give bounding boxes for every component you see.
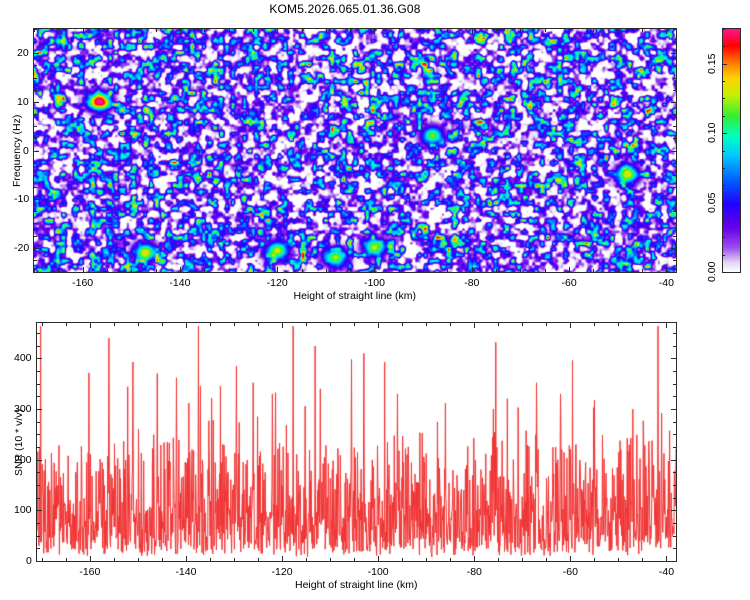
spectrogram-y-axis-title: Frequency (Hz) [11,114,23,186]
major-tick [34,102,39,103]
minor-tick [673,434,676,435]
major-tick [671,199,676,200]
minor-tick [594,323,595,326]
minor-tick [426,323,427,326]
major-tick [37,409,42,410]
minor-tick [450,323,451,326]
major-tick [569,267,570,272]
minor-tick [37,434,40,435]
minor-tick [450,558,451,561]
minor-tick [673,78,676,79]
minor-tick [673,260,676,261]
major-tick [83,29,84,34]
minor-tick [258,558,259,561]
major-tick [666,556,667,561]
minor-tick [673,223,676,224]
y-tick-label: -10 [14,193,29,205]
minor-tick [423,29,424,32]
minor-tick [546,558,547,561]
minor-tick [131,269,132,272]
minor-tick [673,211,676,212]
minor-tick [350,269,351,272]
major-tick [180,267,181,272]
minor-tick [114,558,115,561]
x-tick-label: -100 [364,277,385,289]
minor-tick [496,29,497,32]
minor-tick [354,558,355,561]
minor-tick [34,223,37,224]
y-tick-label: 20 [17,47,29,59]
major-tick [374,267,375,272]
major-tick [34,151,39,152]
minor-tick [229,269,230,272]
colorbar-minor-tick [723,46,725,47]
minor-tick [34,187,37,188]
major-tick [378,323,379,328]
minor-tick [330,558,331,561]
minor-tick [673,65,676,66]
major-tick [90,556,91,561]
minor-tick [37,333,40,334]
colorbar-gradient [723,29,740,272]
minor-tick [34,126,37,127]
colorbar-minor-tick [723,168,725,169]
minor-tick [673,485,676,486]
colorbar-minor-tick [723,185,725,186]
minor-tick [593,29,594,32]
minor-tick [34,78,37,79]
minor-tick [673,536,676,537]
minor-tick [66,323,67,326]
colorbar-minor-tick [723,203,725,204]
minor-tick [673,422,676,423]
major-tick [186,556,187,561]
minor-tick [204,269,205,272]
minor-tick [673,236,676,237]
colorbar-minor-tick [723,29,725,30]
minor-tick [673,138,676,139]
minor-tick [34,29,37,30]
minor-tick [498,558,499,561]
minor-tick [330,323,331,326]
minor-tick [37,485,40,486]
minor-tick [354,323,355,326]
minor-tick [618,558,619,561]
minor-tick [306,558,307,561]
minor-tick [37,548,40,549]
minor-tick [618,29,619,32]
minor-tick [673,371,676,372]
minor-tick [545,269,546,272]
major-tick [378,556,379,561]
minor-tick [131,29,132,32]
colorbar-minor-tick [723,116,725,117]
minor-tick [37,346,40,347]
major-tick [671,409,676,410]
minor-tick [210,558,211,561]
minor-tick [37,422,40,423]
minor-tick [210,323,211,326]
x-tick-label: -140 [169,277,190,289]
minor-tick [234,558,235,561]
minor-tick [426,558,427,561]
major-tick [186,323,187,328]
major-tick [37,358,42,359]
minor-tick [673,187,676,188]
major-tick [472,267,473,272]
minor-tick [37,498,40,499]
minor-tick [37,536,40,537]
colorbar-tick-label: 0.10 [706,123,718,143]
minor-tick [350,29,351,32]
minor-tick [34,41,37,42]
minor-tick [673,447,676,448]
minor-tick [229,29,230,32]
minor-tick [107,29,108,32]
minor-tick [114,323,115,326]
colorbar-minor-tick [723,81,725,82]
colorbar-minor-tick [723,220,725,221]
minor-tick [673,272,676,273]
major-tick [474,556,475,561]
major-tick [34,53,39,54]
minor-tick [162,323,163,326]
x-tick-label: -80 [464,277,479,289]
minor-tick [326,29,327,32]
major-tick [277,29,278,34]
minor-tick [234,323,235,326]
major-tick [666,267,667,272]
minor-tick [520,29,521,32]
minor-tick [34,114,37,115]
minor-tick [34,138,37,139]
y-tick-label: 10 [17,96,29,108]
minor-tick [642,558,643,561]
minor-tick [673,396,676,397]
minor-tick [594,558,595,561]
major-tick [34,248,39,249]
y-tick-label: 0 [26,555,32,567]
minor-tick [37,396,40,397]
minor-tick [253,29,254,32]
minor-tick [498,323,499,326]
minor-tick [37,447,40,448]
minor-tick [138,323,139,326]
spectrogram-image [34,29,676,272]
colorbar-tick-label: 0.00 [706,262,718,282]
minor-tick [673,114,676,115]
major-tick [666,29,667,34]
minor-tick [673,346,676,347]
minor-tick [673,29,676,30]
major-tick [83,267,84,272]
major-tick [570,556,571,561]
minor-tick [58,29,59,32]
x-tick-label: -160 [79,566,100,578]
minor-tick [34,272,37,273]
major-tick [671,248,676,249]
y-tick-label: 400 [14,352,32,364]
minor-tick [258,323,259,326]
minor-tick [302,29,303,32]
minor-tick [673,523,676,524]
major-tick [671,358,676,359]
minor-tick [34,211,37,212]
minor-tick [546,323,547,326]
minor-tick [673,548,676,549]
major-tick [282,323,283,328]
minor-tick [302,269,303,272]
minor-tick [593,269,594,272]
x-tick-label: -40 [659,566,674,578]
minor-tick [34,65,37,66]
minor-tick [37,384,40,385]
minor-tick [673,126,676,127]
minor-tick [642,269,643,272]
major-tick [671,151,676,152]
major-tick [277,267,278,272]
major-tick [671,510,676,511]
snr-plot-area [36,322,677,562]
colorbar-tick-label: 0.15 [706,53,718,73]
major-tick [37,510,42,511]
major-tick [180,29,181,34]
x-tick-label: -140 [175,566,196,578]
minor-tick [673,163,676,164]
spectrogram-plot-area [33,28,677,273]
colorbar-minor-tick [723,272,725,273]
major-tick [666,323,667,328]
figure-title: KOM5.2026.065.01.36.G08 [0,2,690,16]
minor-tick [107,269,108,272]
minor-tick [673,90,676,91]
minor-tick [399,29,400,32]
minor-tick [423,269,424,272]
minor-tick [37,371,40,372]
colorbar-minor-tick [723,237,725,238]
major-tick [474,323,475,328]
major-tick [570,323,571,328]
minor-tick [447,29,448,32]
minor-tick [138,558,139,561]
minor-tick [156,29,157,32]
minor-tick [447,269,448,272]
major-tick [472,29,473,34]
minor-tick [496,269,497,272]
y-tick-label: 0 [23,145,29,157]
minor-tick [673,41,676,42]
major-tick [282,556,283,561]
minor-tick [522,558,523,561]
snr-x-axis-title: Height of straight line (km) [295,579,418,591]
minor-tick [402,323,403,326]
major-tick [37,460,42,461]
x-tick-label: -160 [72,277,93,289]
y-tick-label: 100 [14,504,32,516]
minor-tick [673,333,676,334]
minor-tick [545,29,546,32]
minor-tick [34,260,37,261]
minor-tick [162,558,163,561]
minor-tick [326,269,327,272]
colorbar-tick-label: 0.05 [706,192,718,212]
snr-trace-canvas [37,323,676,561]
x-tick-label: -80 [467,566,482,578]
minor-tick [37,472,40,473]
minor-tick [34,175,37,176]
minor-tick [34,236,37,237]
snr-y-axis-title: SNR (10 * v/v) [13,408,25,475]
x-tick-label: -120 [267,277,288,289]
minor-tick [66,558,67,561]
minor-tick [402,558,403,561]
minor-tick [42,323,43,326]
minor-tick [156,269,157,272]
minor-tick [306,323,307,326]
minor-tick [618,269,619,272]
minor-tick [673,175,676,176]
minor-tick [520,269,521,272]
x-tick-label: -60 [562,277,577,289]
minor-tick [642,29,643,32]
minor-tick [673,498,676,499]
colorbar-minor-tick [723,151,725,152]
figure-root: KOM5.2026.065.01.36.G08 -160-140-120-100… [0,0,750,600]
colorbar-minor-tick [723,64,725,65]
colorbar-minor-tick [723,255,725,256]
major-tick [671,53,676,54]
minor-tick [34,163,37,164]
major-tick [37,561,42,562]
y-tick-label: -20 [14,242,29,254]
minor-tick [673,384,676,385]
colorbar-minor-tick [723,98,725,99]
minor-tick [642,323,643,326]
minor-tick [34,90,37,91]
colorbar-minor-tick [723,133,725,134]
major-tick [34,199,39,200]
major-tick [374,29,375,34]
minor-tick [673,472,676,473]
minor-tick [399,269,400,272]
major-tick [90,323,91,328]
spectrogram-x-axis-title: Height of straight line (km) [294,290,417,302]
minor-tick [253,269,254,272]
minor-tick [37,523,40,524]
major-tick [671,561,676,562]
minor-tick [522,323,523,326]
minor-tick [58,269,59,272]
x-tick-label: -120 [272,566,293,578]
x-tick-label: -40 [659,277,674,289]
minor-tick [204,29,205,32]
major-tick [671,102,676,103]
x-tick-label: -100 [368,566,389,578]
major-tick [569,29,570,34]
x-tick-label: -60 [563,566,578,578]
major-tick [671,460,676,461]
minor-tick [618,323,619,326]
